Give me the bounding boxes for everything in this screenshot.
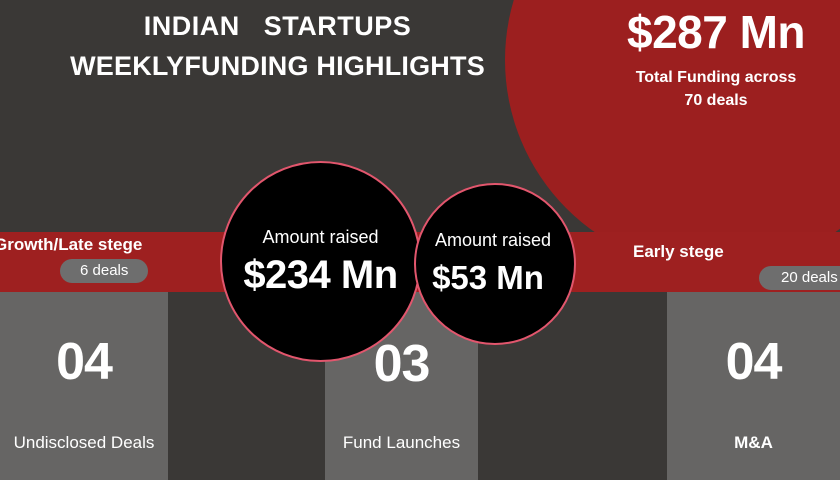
stat-card-mna-number: 04 [726,334,782,390]
amount-circle-growth-late: Amount raised $234 Mn [220,161,421,362]
amount-circle-early: Amount raised $53 Mn [414,183,576,345]
amount-circle-early-caption: Amount raised [435,228,551,252]
stat-card-undisclosed-deals-number: 04 [56,334,112,390]
infographic-canvas: INDIAN STARTUPS WEEKLYFUNDING HIGHLIGHTS… [0,0,840,480]
amount-circle-early-value: $53 Mn [432,256,544,300]
total-funding-caption-line-2: 70 deals [575,89,840,112]
title-line-2: WEEKLYFUNDING HIGHLIGHTS [0,46,555,86]
stage-growth-late-label: Growth/Late stege [0,234,142,256]
amount-circle-growth-late-value: $234 Mn [243,251,397,299]
stage-early: Early stege 20 deals [633,241,840,290]
total-funding-block: $287 Mn Total Funding across 70 deals [575,4,840,112]
total-funding-caption: Total Funding across 70 deals [575,66,840,112]
stage-early-deals-badge: 20 deals [759,266,840,290]
stage-early-label: Early stege [633,241,724,263]
stat-card-mna: 04 M&A [667,292,840,480]
amount-circle-growth-late-caption: Amount raised [262,225,378,249]
title-line-1: INDIAN STARTUPS [0,6,555,46]
total-funding-caption-line-1: Total Funding across [575,66,840,89]
stage-growth-late: Growth/Late stege 6 deals [0,234,148,283]
stage-growth-late-deals-badge: 6 deals [60,259,148,283]
total-funding-amount: $287 Mn [575,4,840,60]
page-title: INDIAN STARTUPS WEEKLYFUNDING HIGHLIGHTS [0,6,555,86]
stat-card-fund-launches-label: Fund Launches [343,432,460,454]
stat-card-undisclosed-deals-label: Undisclosed Deals [14,432,155,454]
stat-card-fund-launches-number: 03 [374,336,430,392]
stat-card-undisclosed-deals: 04 Undisclosed Deals [0,292,168,480]
stat-card-mna-label: M&A [734,432,773,454]
